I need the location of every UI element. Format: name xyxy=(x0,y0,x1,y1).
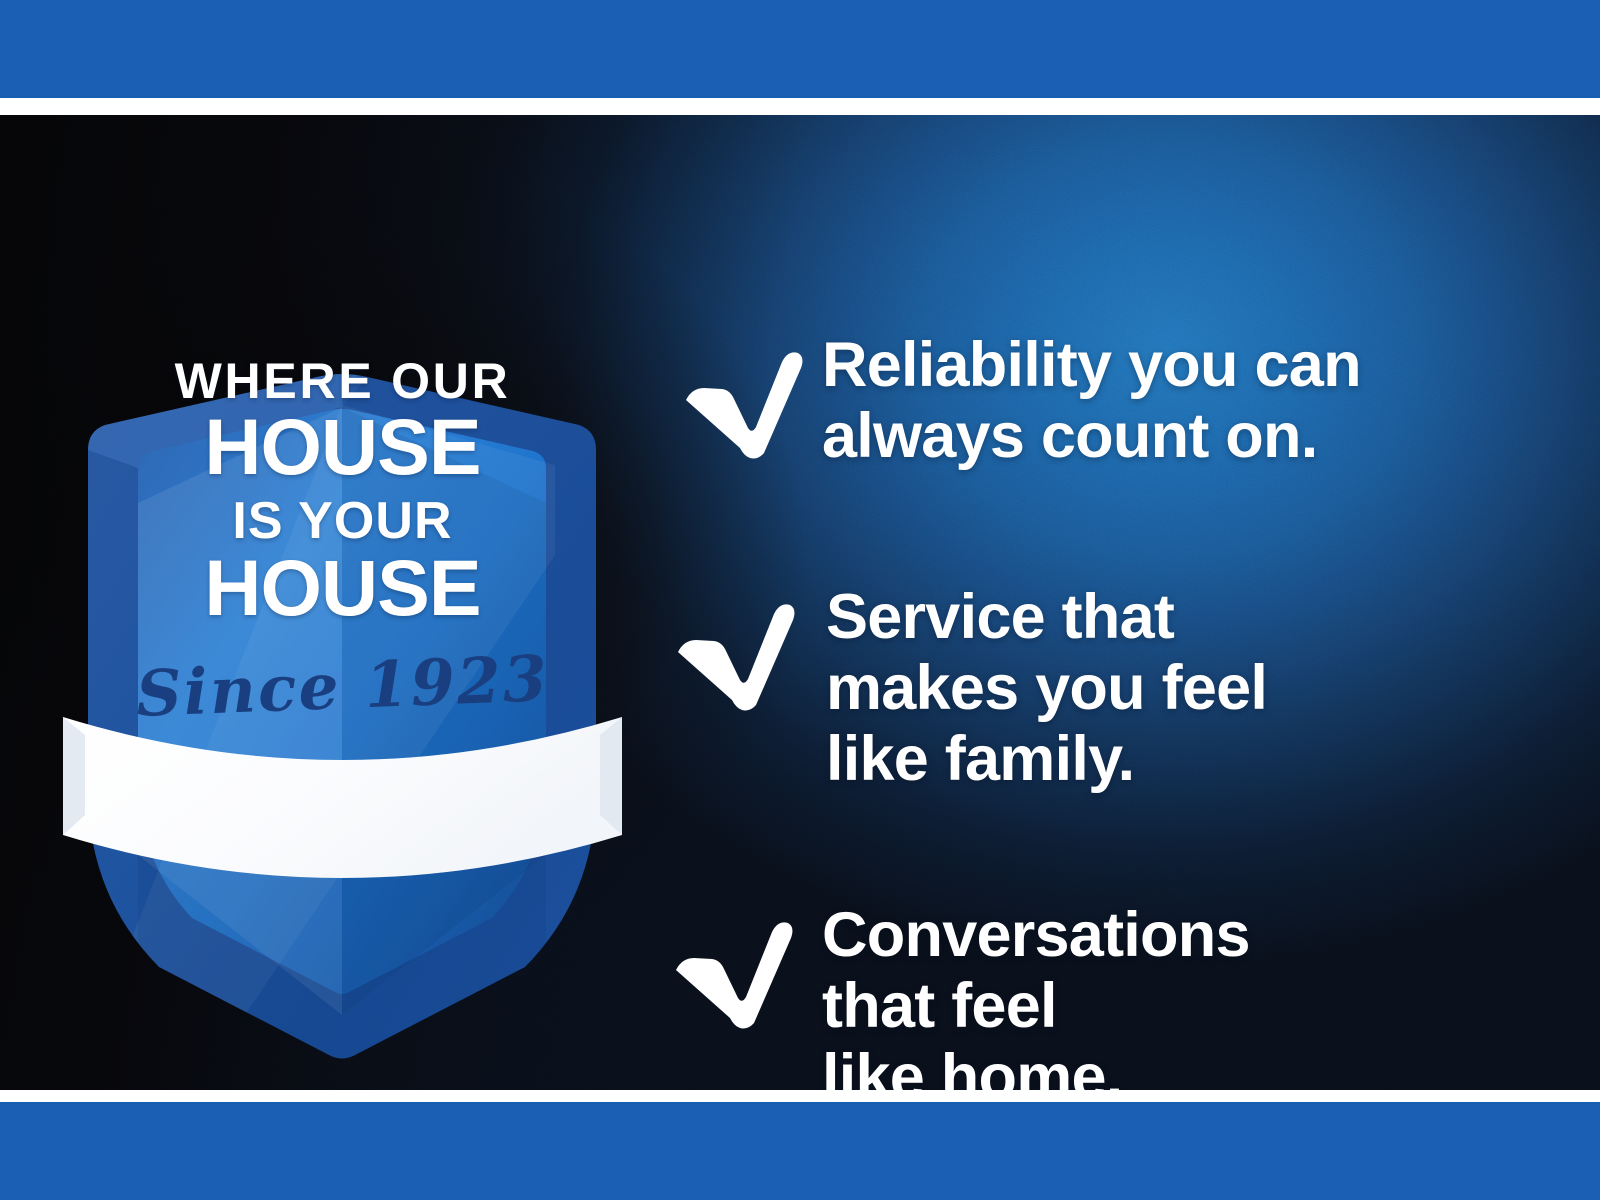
main-stage: WHERE OUR HOUSE IS YOUR HOUSE Since 1923… xyxy=(0,115,1600,1090)
ribbon-fold-right xyxy=(600,717,622,835)
benefits-list: Reliability you can always count on. Ser… xyxy=(660,230,1540,1090)
ribbon-fold-left xyxy=(63,717,85,835)
list-item: Service that makes you feel like family. xyxy=(670,582,1267,796)
logo-badge: WHERE OUR HOUSE IS YOUR HOUSE Since 1923 xyxy=(55,255,630,1065)
check-icon xyxy=(668,914,796,1030)
benefit-text: Conversations that feel like home. xyxy=(822,900,1250,1090)
list-item: Reliability you can always count on. xyxy=(678,330,1361,472)
check-icon xyxy=(678,344,806,460)
benefit-text: Service that makes you feel like family. xyxy=(826,582,1267,796)
benefit-text: Reliability you can always count on. xyxy=(822,330,1361,472)
top-brand-bar xyxy=(0,0,1600,98)
list-item: Conversations that feel like home. xyxy=(668,900,1250,1090)
bottom-brand-bar xyxy=(0,1102,1600,1200)
poster-canvas: WHERE OUR HOUSE IS YOUR HOUSE Since 1923… xyxy=(0,0,1600,1200)
check-icon xyxy=(670,596,798,712)
